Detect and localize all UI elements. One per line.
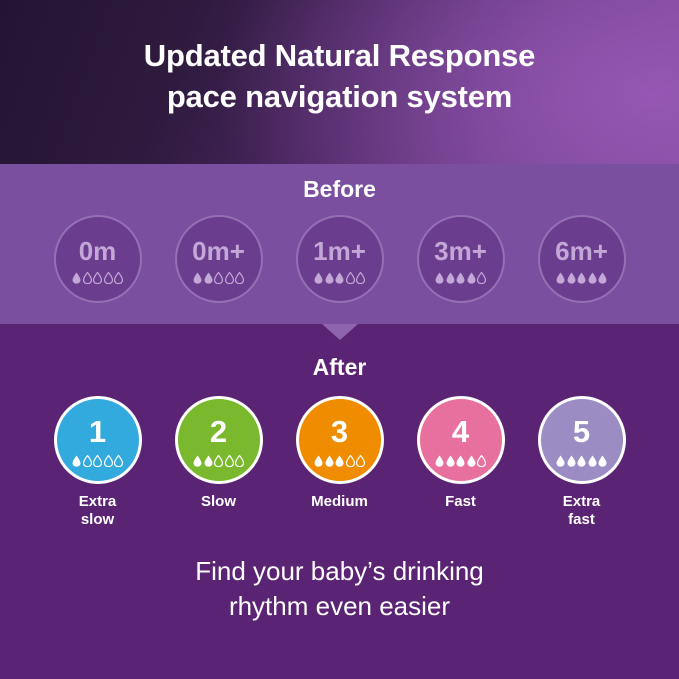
droplet-outline-icon [214,272,223,284]
droplet-meter [435,271,486,284]
droplet-meter [314,271,365,284]
droplet-outline-icon [356,455,365,467]
pace-caption: Medium [311,493,368,511]
droplet-filled-icon [335,272,344,284]
droplet-outline-icon [93,455,102,467]
droplet-filled-icon [335,455,344,467]
droplet-filled-icon [193,455,202,467]
pace-navigation-infographic: Updated Natural Response pace navigation… [0,0,679,679]
droplet-filled-icon [556,455,565,467]
pace-circle[interactable]: 3m+ [417,215,505,303]
after-pace-item[interactable]: 2Slow [166,396,271,511]
droplet-outline-icon [93,272,102,284]
pace-circle-label: 4 [452,416,469,447]
pace-circle[interactable]: 6m+ [538,215,626,303]
droplet-meter [314,454,365,467]
droplet-filled-icon [577,455,586,467]
before-pace-item[interactable]: 6m+ [529,215,634,303]
footer-tagline: Find your baby’s drinking rhythm even ea… [0,554,679,623]
droplet-filled-icon [456,455,465,467]
droplet-filled-icon [435,455,444,467]
droplet-outline-icon [477,455,486,467]
pace-circle-label: 6m+ [555,238,608,264]
pace-circle[interactable]: 0m+ [175,215,263,303]
pace-circle-label: 0m [79,238,117,264]
droplet-filled-icon [446,455,455,467]
droplet-filled-icon [72,455,81,467]
pace-circle-label: 2 [210,416,227,447]
droplet-filled-icon [204,272,213,284]
pace-caption: Extra slow [79,493,117,528]
pace-caption: Slow [201,493,236,511]
droplet-filled-icon [314,455,323,467]
droplet-filled-icon [72,272,81,284]
after-pace-item[interactable]: 3Medium [287,396,392,511]
pace-circle-label: 3 [331,416,348,447]
pace-circle[interactable]: 3 [296,396,384,484]
before-pace-item[interactable]: 3m+ [408,215,513,303]
droplet-filled-icon [598,272,607,284]
after-section-heading: After [0,354,679,381]
droplet-filled-icon [204,455,213,467]
before-pace-item[interactable]: 0m+ [166,215,271,303]
after-pace-item[interactable]: 1Extra slow [45,396,150,528]
page-title: Updated Natural Response pace navigation… [0,36,679,118]
droplet-filled-icon [588,455,597,467]
droplet-filled-icon [314,272,323,284]
pace-circle-label: 0m+ [192,238,245,264]
droplet-outline-icon [104,272,113,284]
droplet-outline-icon [235,272,244,284]
droplet-filled-icon [435,272,444,284]
droplet-meter [193,271,244,284]
droplet-filled-icon [193,272,202,284]
pace-circle[interactable]: 5 [538,396,626,484]
droplet-filled-icon [588,272,597,284]
pace-caption: Extra fast [563,493,601,528]
pace-circle[interactable]: 4 [417,396,505,484]
droplet-outline-icon [235,455,244,467]
droplet-outline-icon [83,455,92,467]
pace-caption: Fast [445,493,476,511]
droplet-filled-icon [567,272,576,284]
droplet-outline-icon [225,455,234,467]
droplet-outline-icon [114,272,123,284]
before-circle-row: 0m0m+1m+3m+6m+ [0,215,679,303]
droplet-filled-icon [577,272,586,284]
droplet-filled-icon [446,272,455,284]
droplet-filled-icon [556,272,565,284]
droplet-outline-icon [477,272,486,284]
droplet-outline-icon [346,272,355,284]
pace-circle-label: 1 [89,416,106,447]
pace-circle[interactable]: 2 [175,396,263,484]
droplet-outline-icon [225,272,234,284]
after-pace-item[interactable]: 4Fast [408,396,513,511]
droplet-meter [72,271,123,284]
before-pace-item[interactable]: 1m+ [287,215,392,303]
droplet-meter [556,271,607,284]
droplet-outline-icon [346,455,355,467]
pace-circle[interactable]: 0m [54,215,142,303]
arrow-down-icon [322,324,358,340]
droplet-outline-icon [356,272,365,284]
droplet-filled-icon [456,272,465,284]
droplet-filled-icon [325,455,334,467]
droplet-filled-icon [325,272,334,284]
after-pace-item[interactable]: 5Extra fast [529,396,634,528]
before-pace-item[interactable]: 0m [45,215,150,303]
droplet-filled-icon [598,455,607,467]
droplet-meter [556,454,607,467]
droplet-meter [193,454,244,467]
droplet-outline-icon [214,455,223,467]
pace-circle-label: 1m+ [313,238,366,264]
pace-circle[interactable]: 1m+ [296,215,384,303]
droplet-outline-icon [114,455,123,467]
before-section-heading: Before [0,176,679,203]
droplet-meter [435,454,486,467]
droplet-filled-icon [467,272,476,284]
pace-circle[interactable]: 1 [54,396,142,484]
droplet-outline-icon [104,455,113,467]
droplet-meter [72,454,123,467]
droplet-outline-icon [83,272,92,284]
droplet-filled-icon [567,455,576,467]
pace-circle-label: 3m+ [434,238,487,264]
pace-circle-label: 5 [573,416,590,447]
droplet-filled-icon [467,455,476,467]
after-circle-row: 1Extra slow2Slow3Medium4Fast5Extra fast [0,396,679,528]
header-band: Updated Natural Response pace navigation… [0,0,679,164]
